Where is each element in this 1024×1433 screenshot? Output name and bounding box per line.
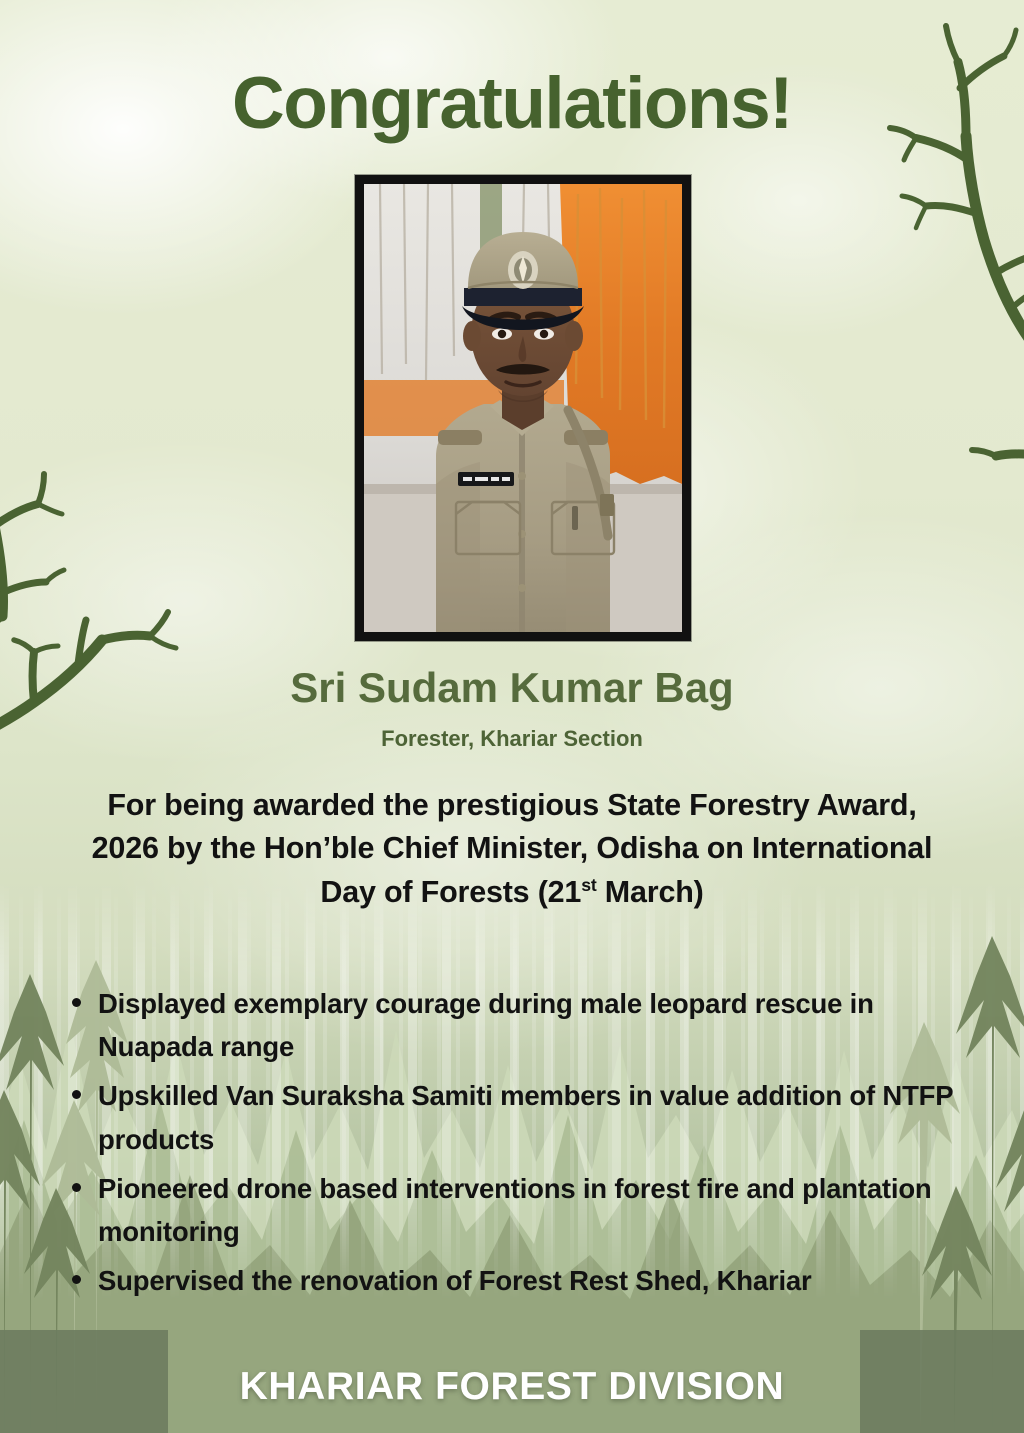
honoree-name: Sri Sudam Kumar Bag [0,664,1024,712]
achievements-list: Displayed exemplary courage during male … [62,982,990,1308]
list-item: Supervised the renovation of Forest Rest… [98,1259,990,1302]
citation-part-1: For being awarded the prestigious State … [92,788,933,909]
citation-part-2: March) [597,875,704,909]
honoree-role: Forester, Khariar Section [0,726,1024,752]
honoree-photo [364,184,682,632]
list-item: Pioneered drone based interventions in f… [98,1167,990,1253]
honoree-photo-frame [355,175,691,641]
organisation-footer: KHARIAR FOREST DIVISION [0,1365,1024,1409]
list-item: Displayed exemplary courage during male … [98,982,990,1068]
congratulations-poster: Congratulations! [0,0,1024,1433]
award-citation: For being awarded the prestigious State … [78,784,946,914]
honoree-portrait-illustration [364,184,682,632]
page-title: Congratulations! [0,62,1024,145]
ordinal-suffix: st [581,874,596,894]
list-item: Upskilled Van Suraksha Samiti members in… [98,1074,990,1160]
